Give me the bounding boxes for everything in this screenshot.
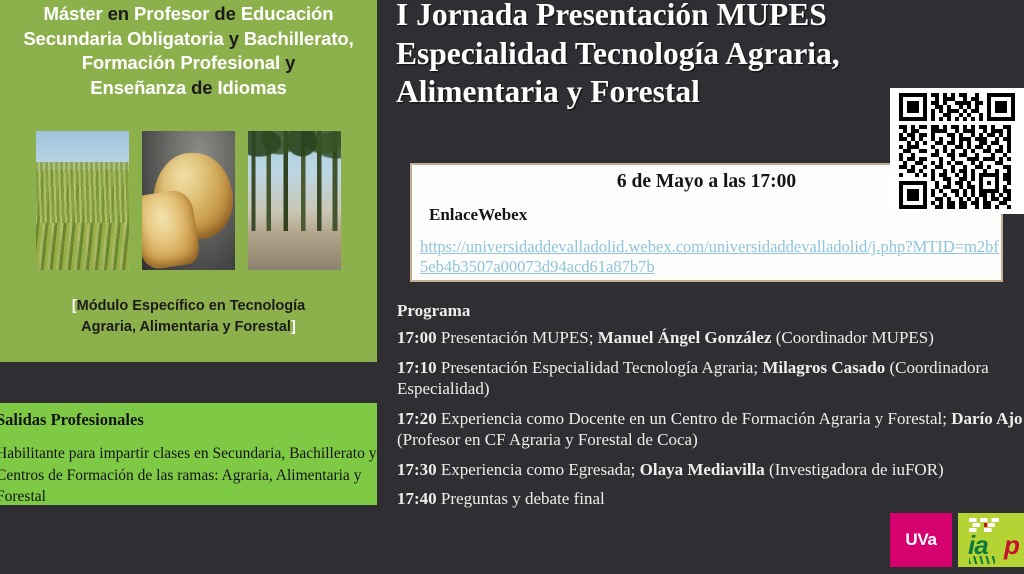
master-title-word: Secundaria bbox=[23, 28, 127, 49]
modulo-especifico-text: [Módulo Específico en Tecnología Agraria… bbox=[0, 296, 377, 338]
program-item-time: 17:30 bbox=[397, 460, 437, 479]
program-item-speaker: Milagros Casado bbox=[762, 358, 885, 377]
program-item-speaker: Manuel Ángel González bbox=[598, 328, 772, 347]
program-item-time: 17:40 bbox=[397, 489, 437, 508]
program-item-time: 17:10 bbox=[397, 358, 437, 377]
modulo-line-2: Agraria, Alimentaria y Forestal bbox=[81, 319, 291, 335]
webex-link-label: EnlaceWebex bbox=[429, 205, 527, 225]
program-item-time: 17:20 bbox=[397, 409, 437, 428]
iap-logo: ia p bbox=[958, 513, 1024, 567]
salidas-heading: Salidas Profesionales bbox=[0, 410, 144, 430]
iap-logo-stalks bbox=[969, 556, 995, 564]
master-title-word: y bbox=[229, 28, 244, 49]
logo-bar: UVa ia p bbox=[890, 513, 1024, 567]
photo-strip bbox=[36, 131, 341, 270]
event-title-line-2: Especialidad Tecnología Agraria, bbox=[396, 36, 840, 71]
master-title-word: Obligatoria bbox=[127, 28, 229, 49]
program-heading: Programa bbox=[397, 299, 1024, 323]
master-title-word: y bbox=[285, 52, 295, 73]
program-list: 17:00 Presentación MUPES; Manuel Ángel G… bbox=[397, 327, 1024, 510]
salidas-body-text: Habilitante para impartir clases en Secu… bbox=[0, 443, 384, 508]
uva-logo: UVa bbox=[890, 513, 952, 567]
right-column: I Jornada Presentación MUPES Especialida… bbox=[377, 0, 1024, 574]
qr-code-icon[interactable] bbox=[890, 88, 1024, 214]
modulo-line-1: Módulo Específico en Tecnología bbox=[77, 298, 306, 314]
uva-logo-text: UVa bbox=[890, 530, 952, 550]
salidas-profesionales-panel: Salidas Profesionales Habilitante para i… bbox=[0, 403, 377, 505]
event-title-line-1: I Jornada Presentación MUPES bbox=[396, 0, 827, 32]
master-title-word: en bbox=[108, 3, 134, 24]
master-title-word: Formación bbox=[82, 52, 181, 73]
program-item: 17:10 Presentación Especialidad Tecnolog… bbox=[397, 357, 1024, 400]
master-title-word: Educación bbox=[241, 3, 334, 24]
master-info-panel: Máster en Profesor de EducaciónSecundari… bbox=[0, 0, 377, 362]
program-item: 17:20 Experiencia como Docente en un Cen… bbox=[397, 408, 1024, 451]
program-item: 17:00 Presentación MUPES; Manuel Ángel G… bbox=[397, 327, 1024, 349]
program-item: 17:40 Preguntas y debate final bbox=[397, 488, 1024, 510]
wheat-field-photo bbox=[36, 131, 129, 270]
pine-forest-photo bbox=[248, 131, 341, 270]
program-item-speaker: Darío Ajo bbox=[951, 409, 1022, 428]
program-item-time: 17:00 bbox=[397, 328, 437, 347]
program-section: Programa 17:00 Presentación MUPES; Manue… bbox=[397, 299, 1024, 518]
master-title-word: Idiomas bbox=[218, 77, 287, 98]
master-title-word: Profesor bbox=[134, 3, 214, 24]
master-title-word: de bbox=[191, 77, 217, 98]
webex-meeting-link[interactable]: https://universidaddevalladolid.webex.co… bbox=[420, 237, 1004, 277]
iap-logo-accent: p bbox=[1004, 530, 1020, 561]
master-title-word: Máster bbox=[44, 3, 108, 24]
left-column: Máster en Profesor de EducaciónSecundari… bbox=[0, 0, 377, 574]
program-item: 17:30 Experiencia como Egresada; Olaya M… bbox=[397, 459, 1024, 481]
master-title-word: Enseñanza bbox=[90, 77, 191, 98]
presentation-slide: Máster en Profesor de EducaciónSecundari… bbox=[0, 0, 1024, 574]
master-title-word: de bbox=[214, 3, 240, 24]
program-item-speaker: Olaya Mediavilla bbox=[640, 460, 765, 479]
event-title-line-3: Alimentaria y Forestal bbox=[396, 74, 700, 109]
modulo-close-bracket: ] bbox=[291, 319, 296, 335]
bread-loaf-photo bbox=[142, 131, 235, 270]
master-title-word: Bachillerato, bbox=[244, 28, 354, 49]
master-degree-title: Máster en Profesor de EducaciónSecundari… bbox=[0, 2, 377, 100]
master-title-word: Profesional bbox=[180, 52, 285, 73]
